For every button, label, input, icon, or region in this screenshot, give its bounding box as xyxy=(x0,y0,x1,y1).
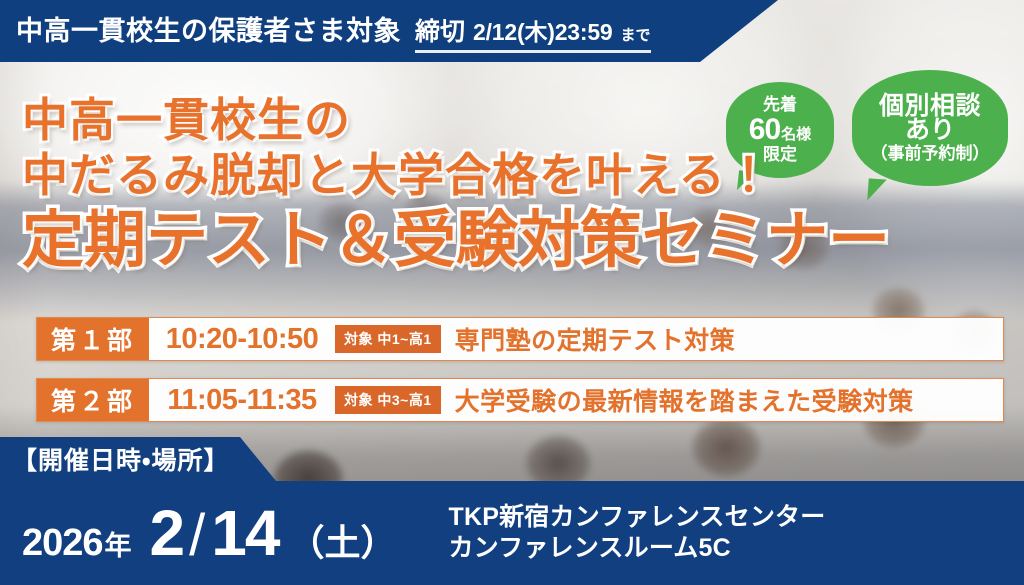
venue-line-2: カンファレンスルーム5C xyxy=(448,533,825,564)
session-time: 11:05-11:35 xyxy=(149,379,335,421)
target-audience-label: 中高一貫校生の保護者さま対象 xyxy=(16,9,401,48)
deadline-group: 締切 2/12(木)23:59 まで xyxy=(415,12,651,53)
event-year-suffix: 年 xyxy=(105,524,132,563)
badge-consult-line2: あり xyxy=(905,118,955,144)
badge-individual-consultation: 個別相談 あり （事前予約制） xyxy=(852,70,1008,186)
event-info-tab: 【開催日時・場所】 xyxy=(0,437,276,481)
event-venue: TKP新宿カンファレンスセンター カンファレンスルーム5C xyxy=(448,502,825,564)
session-target-badge: 対象 中3~高1 xyxy=(335,386,441,414)
session-description: 大学受験の最新情報を踏まえた受験対策 xyxy=(455,379,1003,421)
event-date-separator: / xyxy=(189,502,205,569)
session-list: 第１部 10:20-10:50 対象 中1~高1 専門塾の定期テスト対策 第２部… xyxy=(36,317,1004,439)
session-part-label: 第１部 xyxy=(37,318,149,360)
badge-capacity-count-row: 60 名様 xyxy=(749,115,811,146)
event-month: 2 xyxy=(150,496,184,570)
seminar-title: 定期テスト＆受験対策セミナー xyxy=(22,208,742,274)
headline-block: 中高一貫校生の 中だるみ脱却と大学合格を叶える！ 定期テスト＆受験対策セミナー xyxy=(22,96,742,273)
session-row: 第１部 10:20-10:50 対象 中1~高1 専門塾の定期テスト対策 xyxy=(36,317,1004,361)
deadline-suffix: まで xyxy=(621,24,651,45)
top-deadline-bar: 中高一貫校生の保護者さま対象 締切 2/12(木)23:59 まで xyxy=(0,0,778,62)
session-part-label: 第２部 xyxy=(37,379,149,421)
deadline-label: 締切 xyxy=(415,12,465,48)
event-day: 14 xyxy=(211,496,278,570)
event-date: 2026 年 2 / 14 （土） xyxy=(0,496,396,570)
badge-capacity-line1: 先着 xyxy=(763,96,797,113)
session-description: 専門塾の定期テスト対策 xyxy=(455,318,1003,360)
session-time: 10:20-10:50 xyxy=(149,318,335,360)
venue-line-1: TKP新宿カンファレンスセンター xyxy=(448,502,825,533)
seminar-promo-banner: 中高一貫校生の保護者さま対象 締切 2/12(木)23:59 まで 先着 60 … xyxy=(0,0,1024,585)
event-info-row: 2026 年 2 / 14 （土） TKP新宿カンファレンスセンター カンファレ… xyxy=(0,481,1024,585)
headline-line-2: 中だるみ脱却と大学合格を叶える！ xyxy=(22,151,742,200)
event-year: 2026 xyxy=(22,522,103,565)
session-row: 第２部 11:05-11:35 対象 中3~高1 大学受験の最新情報を踏まえた受… xyxy=(36,378,1004,422)
top-deadline-bar-content: 中高一貫校生の保護者さま対象 締切 2/12(木)23:59 まで xyxy=(0,9,651,53)
event-info-tab-label: 【開催日時・場所】 xyxy=(0,441,230,477)
headline-line-1: 中高一貫校生の xyxy=(22,96,742,145)
event-info-footer: 2026 年 2 / 14 （土） TKP新宿カンファレンスセンター カンファレ… xyxy=(0,481,1024,585)
badge-capacity-unit: 名様 xyxy=(781,127,811,142)
event-day-of-week: （土） xyxy=(288,514,396,566)
deadline-value: 2/12(木)23:59 xyxy=(473,13,613,47)
session-target-badge: 対象 中1~高1 xyxy=(335,325,441,353)
badge-consult-line3: （事前予約制） xyxy=(871,145,990,162)
badge-capacity-number: 60 xyxy=(749,115,780,146)
